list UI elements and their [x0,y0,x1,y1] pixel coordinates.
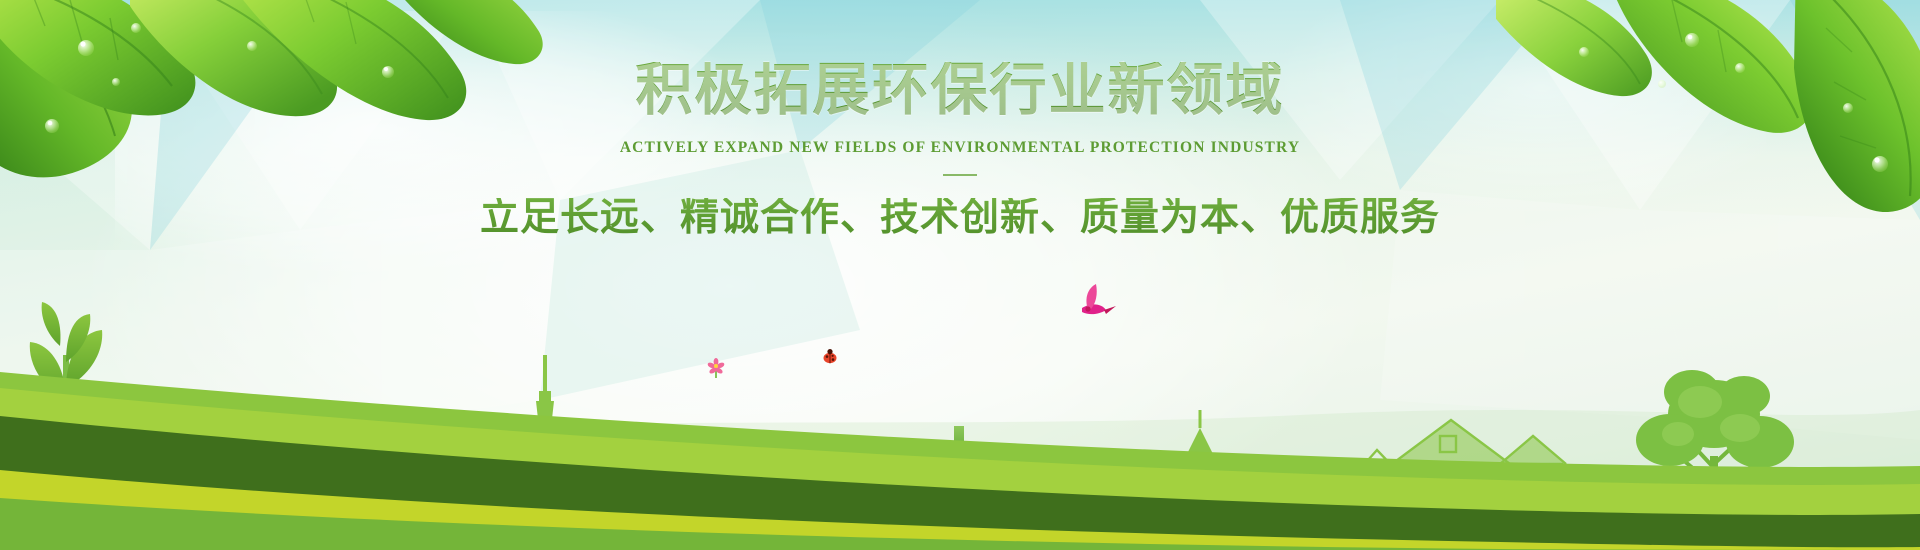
eco-banner: 积极拓展环保行业新领域 ACTIVELY EXPAND NEW FIELDS O… [0,0,1920,550]
hummingbird-icon [1082,284,1116,314]
wave-ribbon-icon [0,320,1920,550]
